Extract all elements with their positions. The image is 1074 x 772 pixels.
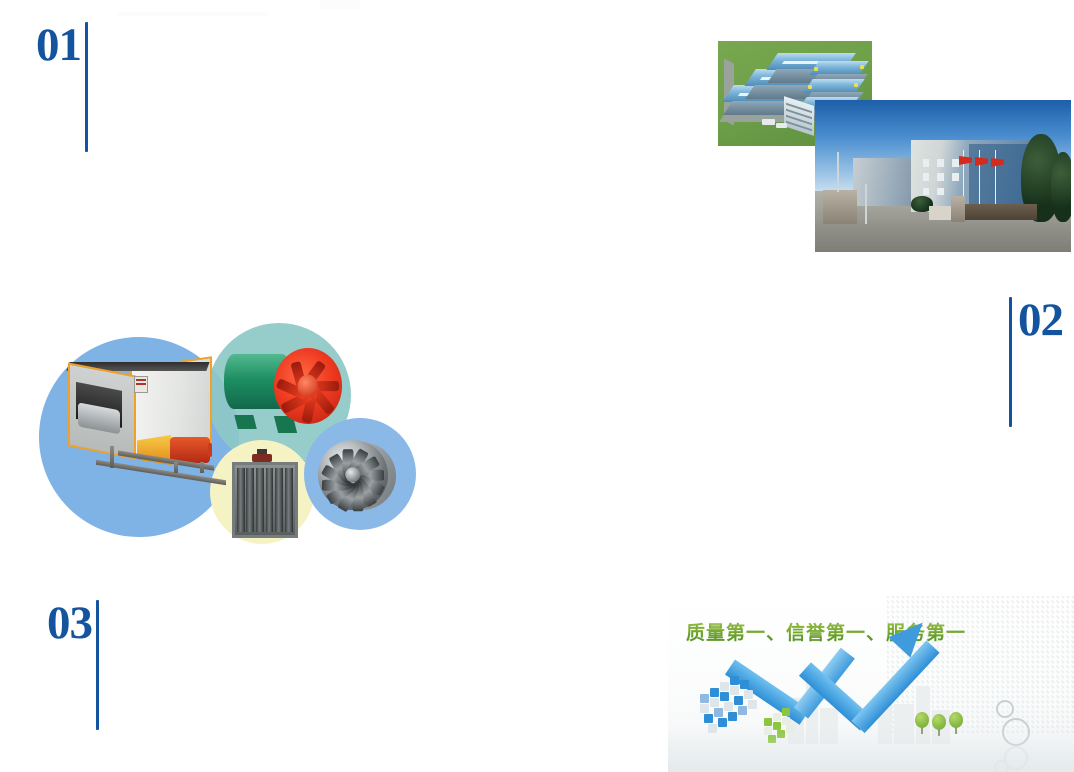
chrome-blade (338, 480, 362, 512)
damper-blade (275, 468, 283, 532)
chrome-blade (321, 465, 353, 489)
section-marker-01: 01 (36, 22, 94, 152)
photo-side-building (853, 158, 919, 206)
cube (720, 682, 729, 691)
cube (744, 690, 753, 699)
cabinet-fan-wheel (78, 402, 120, 434)
circle-axial-fan (207, 323, 351, 467)
chrome-blade (329, 454, 353, 486)
fan-casing-green (224, 354, 292, 409)
damper-blade (246, 468, 254, 532)
belt-guard-cone (137, 435, 171, 465)
lamp-post (837, 152, 839, 192)
steel-base-rail (118, 450, 214, 470)
section-number-03: 03 (47, 600, 92, 646)
damper-blade (285, 468, 293, 532)
circle-cabinet-fan (39, 337, 239, 537)
gate-house (823, 190, 857, 224)
cabinet-open-face (68, 362, 136, 460)
building-window (952, 173, 959, 181)
scan-artifact (320, 0, 360, 9)
cube-cluster-blue (700, 672, 760, 734)
cube (748, 700, 757, 709)
damper-actuator (252, 454, 272, 462)
building-window (923, 173, 930, 181)
impeller-blade (280, 391, 313, 414)
impeller-blade (290, 361, 308, 394)
courtyard-wall (963, 204, 1037, 220)
damper-blade (237, 468, 245, 532)
building-window (952, 159, 959, 167)
section-marker-02: 02 (1005, 297, 1063, 427)
cube (724, 702, 733, 711)
building-window (937, 188, 944, 196)
damper-blade (256, 468, 264, 532)
cube (720, 692, 729, 701)
cube (773, 713, 781, 721)
cube (782, 708, 790, 716)
impeller-blade (275, 378, 308, 400)
render-vehicle (776, 123, 787, 128)
fan-mounting-foot (234, 415, 256, 429)
lamp-post (865, 184, 867, 224)
render-marker-dot (814, 67, 818, 71)
building-window (923, 188, 930, 196)
cube (740, 680, 749, 689)
chrome-blade (353, 470, 384, 481)
render-vehicle (762, 119, 775, 125)
cube (738, 706, 747, 715)
chrome-blade (353, 475, 377, 507)
chrome-blade (353, 471, 385, 495)
fan-mounting-foot (274, 416, 297, 433)
cube (714, 708, 723, 717)
office-building-photo (815, 100, 1071, 252)
chrome-fan-shroud (328, 442, 396, 510)
section-marker-03: 03 (47, 600, 105, 730)
impeller-blade (300, 360, 326, 391)
cabinet-side-panel (130, 356, 212, 458)
circle-chrome-fan (304, 418, 416, 530)
impeller-hub (298, 375, 319, 398)
chrome-axial-fan (318, 440, 388, 510)
cabinet-top-edge (66, 362, 209, 371)
render-marker-dot (808, 85, 812, 89)
cube (764, 718, 772, 726)
axial-flow-fan (224, 348, 342, 424)
scan-artifact (118, 12, 268, 16)
cabinet-leg (110, 446, 114, 468)
chrome-blade (322, 480, 353, 491)
chrome-fan-hub (345, 467, 360, 482)
chrome-blade (348, 456, 380, 480)
cube (730, 676, 739, 685)
section-rule-02 (1009, 297, 1012, 427)
section-number-01: 01 (36, 22, 81, 68)
cube (710, 698, 719, 707)
damper-blade (266, 468, 274, 532)
impeller-blade (308, 385, 335, 416)
section-number-02: 02 (1018, 297, 1063, 343)
cube (782, 717, 790, 725)
cube (704, 714, 713, 723)
cube (710, 688, 719, 697)
impeller-blade (308, 381, 339, 391)
cube (728, 712, 737, 721)
evergreen-tree (1051, 152, 1071, 222)
building-window (923, 159, 930, 167)
chrome-blade (343, 449, 354, 480)
chrome-blade (353, 480, 364, 511)
impeller-blade (301, 391, 317, 424)
cabinet-control-panel (134, 376, 149, 394)
cabinet-inlet (76, 382, 121, 428)
roadside-box (929, 206, 951, 220)
chrome-blade (326, 480, 358, 504)
building-window (937, 159, 944, 167)
fire-damper (232, 462, 298, 538)
electric-motor (170, 437, 210, 463)
steel-base-rail (96, 460, 226, 486)
motor-mount-leg (174, 462, 178, 473)
cube (700, 694, 709, 703)
bubble-ring (996, 700, 1014, 718)
motor-mount-leg (200, 462, 204, 473)
growth-banner: 质量第一、信誉第一、服务第一 (668, 596, 1074, 772)
cabinet-box-fan (68, 362, 208, 460)
gate-house (951, 196, 965, 222)
section-rule-01 (85, 22, 88, 152)
cube (734, 696, 743, 705)
circle-fire-damper (210, 440, 314, 544)
page-canvas: 01 (0, 0, 1074, 772)
cube (700, 704, 709, 713)
fan-impeller-red (274, 348, 342, 424)
building-window (937, 173, 944, 181)
section-rule-03 (96, 600, 99, 730)
banner-floor-gradient (668, 726, 1074, 772)
cube (730, 686, 739, 695)
render-marker-dot (860, 65, 864, 69)
render-marker-dot (854, 83, 858, 87)
chrome-blade (344, 448, 368, 480)
